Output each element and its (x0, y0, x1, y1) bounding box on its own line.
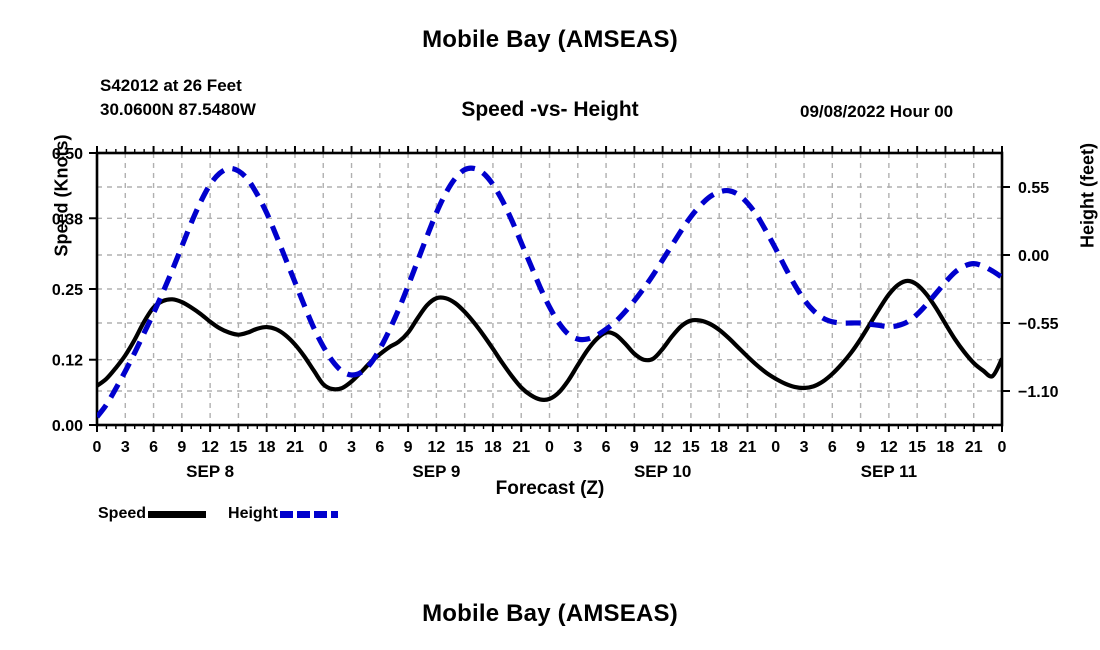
y-tick-label-left: 0.12 (52, 353, 83, 370)
x-tick-label: 12 (201, 439, 219, 456)
x-tick-label: 0 (319, 439, 328, 456)
x-tick-label: 9 (404, 439, 413, 456)
x-tick-label: 3 (800, 439, 809, 456)
x-tick-label: 18 (710, 439, 728, 456)
x-tick-label: 21 (965, 439, 983, 456)
x-tick-label: 15 (908, 439, 926, 456)
legend-swatch-speed-icon (148, 511, 206, 518)
x-tick-label: 21 (512, 439, 530, 456)
x-axis-title: Forecast (Z) (0, 478, 1100, 500)
chart-plot-area: 0369121518210369121518210369121518210369… (0, 0, 1100, 650)
y-tick-label-right: −0.55 (1018, 316, 1059, 333)
x-tick-label: 3 (121, 439, 130, 456)
y-axis-left-title: Speed (Knots) (52, 86, 73, 306)
x-tick-label: 6 (828, 439, 837, 456)
x-tick-label: 12 (654, 439, 672, 456)
x-tick-label: 6 (375, 439, 384, 456)
chart-legend: Speed Height (98, 505, 338, 523)
x-tick-label: 3 (347, 439, 356, 456)
x-tick-label: 18 (484, 439, 502, 456)
x-tick-label: 15 (230, 439, 248, 456)
x-tick-label: 9 (856, 439, 865, 456)
y-tick-label-right: 0.55 (1018, 180, 1049, 197)
x-tick-label: 3 (573, 439, 582, 456)
x-tick-label: 9 (177, 439, 186, 456)
legend-swatch-height-icon (280, 511, 338, 518)
x-tick-label: 18 (937, 439, 955, 456)
x-tick-label: 0 (771, 439, 780, 456)
chart-svg: 0369121518210369121518210369121518210369… (0, 0, 1100, 650)
x-tick-label: 15 (456, 439, 474, 456)
legend-label-height: Height (228, 505, 278, 523)
x-tick-label: 18 (258, 439, 276, 456)
x-tick-label: 15 (682, 439, 700, 456)
y-axis-right-title: Height (feet) (1078, 86, 1099, 306)
x-tick-label: 9 (630, 439, 639, 456)
y-tick-label-right: 0.00 (1018, 248, 1049, 265)
x-tick-label: 6 (149, 439, 158, 456)
y-tick-label-right: −1.10 (1018, 384, 1059, 401)
x-tick-label: 0 (545, 439, 554, 456)
legend-label-speed: Speed (98, 505, 146, 523)
x-tick-label: 0 (998, 439, 1007, 456)
x-tick-label: 21 (739, 439, 757, 456)
x-tick-label: 0 (93, 439, 102, 456)
x-tick-label: 12 (880, 439, 898, 456)
y-tick-label-left: 0.00 (52, 418, 83, 435)
x-tick-label: 21 (286, 439, 304, 456)
x-tick-label: 6 (602, 439, 611, 456)
series-line-speed (97, 281, 1002, 400)
gridlines (97, 153, 1002, 425)
x-tick-label: 12 (427, 439, 445, 456)
bottom-chart-title: Mobile Bay (AMSEAS) (0, 600, 1100, 628)
